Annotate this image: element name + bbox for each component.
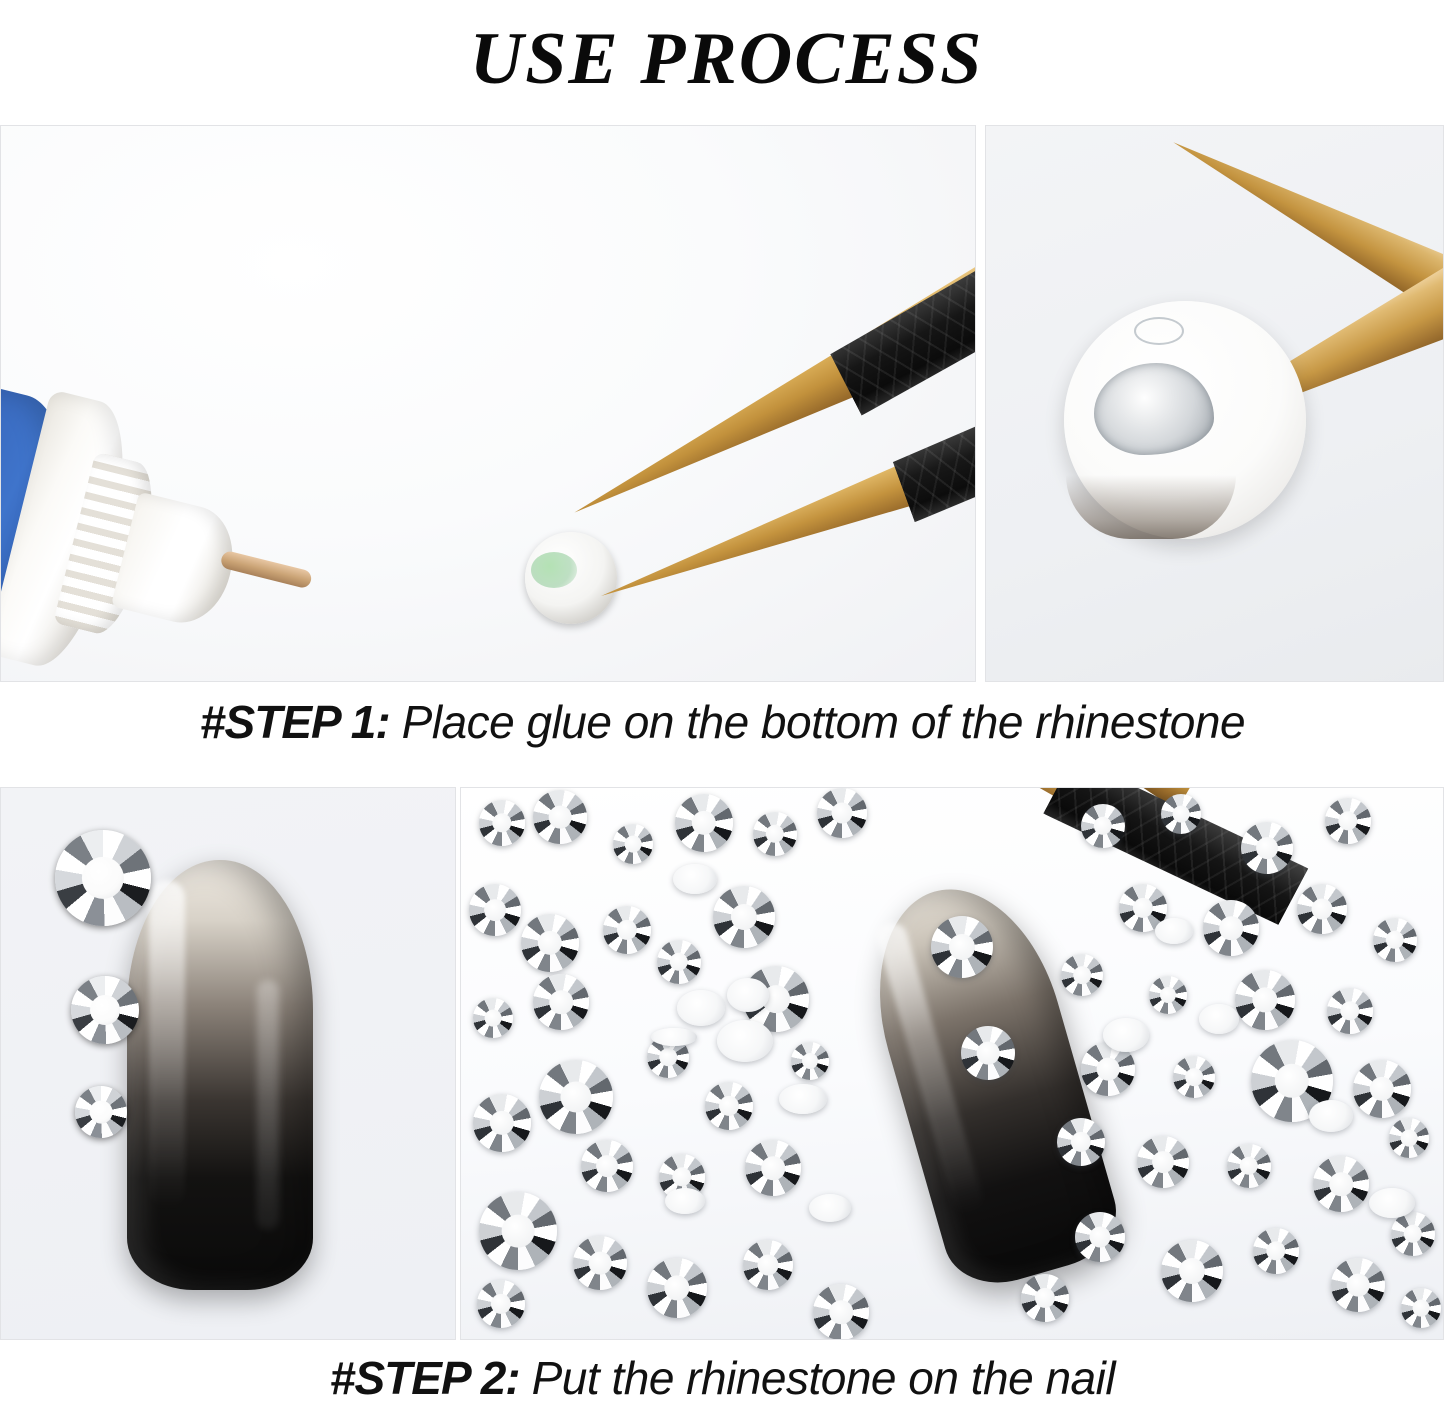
scattered-rhinestone [533, 790, 587, 844]
scattered-rhinestone [1227, 1144, 1271, 1188]
rhinestone-flat-back [1064, 301, 1306, 539]
scattered-rhinestone [713, 886, 775, 948]
rhinestone-flat-back [1199, 1004, 1239, 1034]
scattered-rhinestone [1137, 1136, 1189, 1188]
step-2-text: Put the rhinestone on the nail [532, 1351, 1115, 1405]
rhinestone-flat-back [651, 1028, 697, 1046]
scattered-rhinestone [745, 1140, 801, 1196]
scattered-rhinestone [1353, 1060, 1411, 1118]
glue-droplet [1094, 363, 1214, 455]
rhinestone-placement-photo [460, 787, 1444, 1340]
scattered-rhinestone [1161, 794, 1201, 834]
scattered-rhinestone [1057, 1118, 1105, 1166]
scattered-rhinestone [477, 1280, 525, 1328]
scattered-rhinestone [521, 914, 579, 972]
ombre-nail [127, 860, 313, 1290]
scattered-rhinestone [1173, 1056, 1215, 1098]
page-title: USE PROCESS [0, 0, 1445, 118]
scattered-rhinestone [479, 1192, 557, 1270]
scattered-rhinestone [1203, 900, 1259, 956]
glue-droplet [531, 552, 577, 588]
scattered-rhinestone [613, 824, 653, 864]
scattered-rhinestone [791, 1042, 829, 1080]
scattered-rhinestone [1241, 822, 1293, 874]
scattered-rhinestone [1297, 884, 1347, 934]
scattered-rhinestone [1235, 970, 1295, 1030]
scattered-rhinestone [753, 812, 797, 856]
rhinestone-back-closeup-photo [985, 125, 1444, 682]
scattered-rhinestone [473, 998, 513, 1038]
scattered-rhinestone [1021, 1274, 1069, 1322]
step-1-caption: #STEP 1: Place glue on the bottom of the… [0, 692, 1445, 752]
nail-rhinestone-placed [931, 916, 993, 978]
nail-highlight [149, 880, 185, 1210]
scattered-rhinestone [1331, 1258, 1385, 1312]
nail-highlight-secondary [257, 980, 279, 1230]
scattered-rhinestone [1081, 804, 1125, 848]
nail-rhinestone-placed [961, 1026, 1015, 1080]
scattered-rhinestone [813, 1284, 869, 1340]
glue-bubble [1134, 317, 1184, 345]
step-1-label: #STEP 1: [200, 695, 390, 749]
rhinestone-flat-back [1369, 1188, 1415, 1218]
rhinestone-flat-back [727, 978, 769, 1012]
scattered-rhinestone [539, 1060, 613, 1134]
scattered-rhinestone [581, 1140, 633, 1192]
rhinestone-flat-back [673, 864, 717, 894]
scattered-rhinestone [817, 788, 867, 838]
glue-application-photo [0, 125, 976, 682]
scattered-rhinestone [603, 906, 651, 954]
scattered-rhinestone [1401, 1288, 1441, 1328]
step-2-image-row [0, 787, 1445, 1340]
scattered-rhinestone [479, 800, 525, 846]
scattered-rhinestone [1075, 1212, 1125, 1262]
step-2-caption: #STEP 2: Put the rhinestone on the nail [0, 1348, 1445, 1408]
scattered-rhinestone [1149, 976, 1187, 1014]
use-process-infographic: USE PROCESS [0, 0, 1445, 1412]
scattered-rhinestone [657, 940, 701, 984]
step-1-image-row [0, 125, 1445, 682]
rhinestone-flat-back [717, 1020, 773, 1062]
step-2-label: #STEP 2: [330, 1351, 520, 1405]
nail-rhinestone-small [75, 1086, 127, 1138]
rhinestone-flat-back [665, 1188, 705, 1214]
rhinestone-flat-back [1155, 918, 1193, 944]
scattered-rhinestone [1391, 1212, 1435, 1256]
rhinestone-flat-back [1103, 1018, 1149, 1052]
scattered-rhinestone [1313, 1156, 1369, 1212]
scattered-rhinestone [1325, 798, 1371, 844]
scattered-rhinestone [675, 794, 733, 852]
scattered-rhinestone [743, 1240, 793, 1290]
scattered-rhinestone [1061, 954, 1103, 996]
finished-nail-photo [0, 787, 456, 1340]
scattered-rhinestone [705, 1082, 753, 1130]
scattered-rhinestone [533, 974, 589, 1030]
scattered-rhinestone [573, 1236, 627, 1290]
rhinestone-flat-back [779, 1084, 827, 1114]
nail-rhinestone-large [55, 830, 151, 926]
step-1-text: Place glue on the bottom of the rhinesto… [402, 695, 1245, 749]
rhinestone-flat-back [677, 990, 725, 1026]
scattered-rhinestone [1327, 988, 1373, 1034]
scattered-rhinestone [647, 1258, 707, 1318]
scattered-rhinestone [473, 1094, 531, 1152]
rhinestone-flat-back [1309, 1100, 1353, 1132]
nail-rhinestone-medium [71, 976, 139, 1044]
scattered-rhinestone [1373, 918, 1417, 962]
scattered-rhinestone [1389, 1118, 1429, 1158]
rhinestone-with-glue [525, 532, 617, 624]
scattered-rhinestone [1253, 1228, 1299, 1274]
rhinestone-flat-back [809, 1194, 851, 1222]
scattered-rhinestone [469, 884, 521, 936]
scattered-rhinestone [1161, 1240, 1223, 1302]
